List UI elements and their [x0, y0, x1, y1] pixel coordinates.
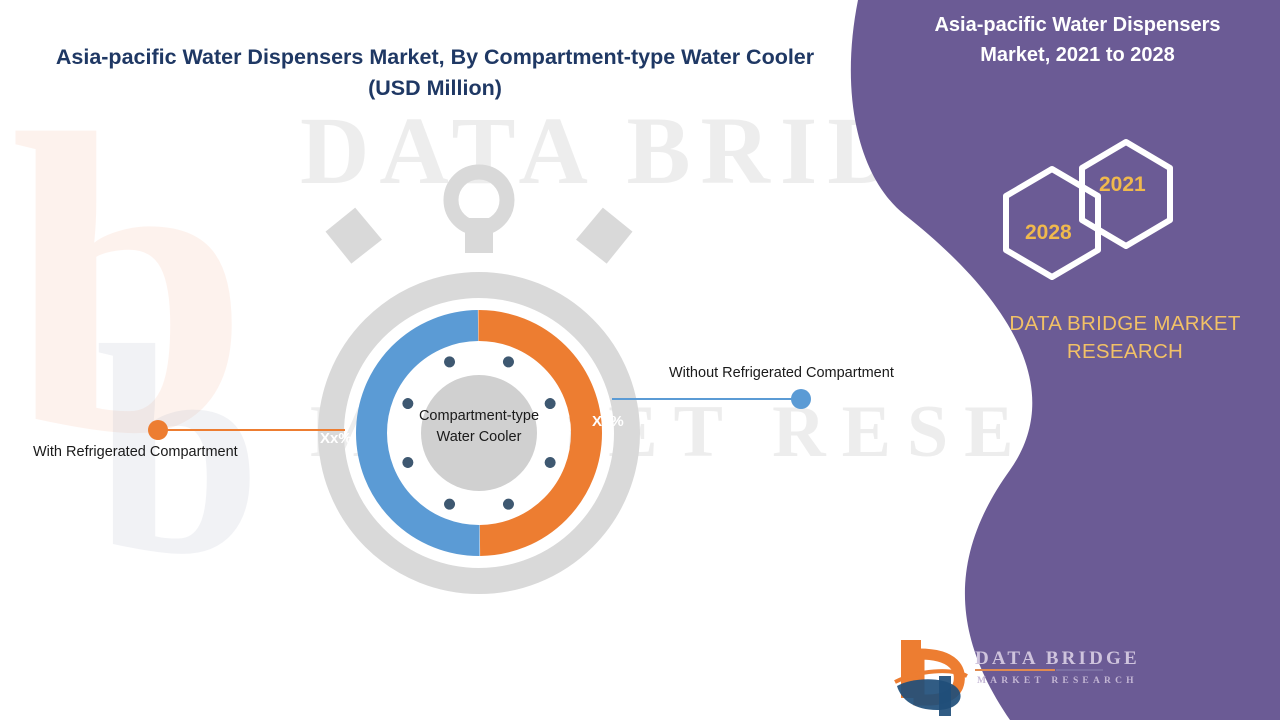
panel-brand-line2: RESEARCH	[1067, 340, 1183, 363]
panel-title: Asia-pacific Water Dispensers Market, 20…	[905, 10, 1250, 70]
footer-logo-title: DATA BRIDGE	[975, 648, 1140, 670]
hexagon-label-2021: 2021	[1099, 173, 1146, 197]
panel-brand-line1: DATA BRIDGE MARKET	[1009, 312, 1240, 335]
stopwatch-ear-left	[322, 204, 386, 267]
stopwatch-ear-right	[572, 204, 636, 267]
callout-dot-left	[148, 420, 168, 440]
callout-label-without-refrigerated: Without Refrigerated Compartment	[669, 365, 894, 381]
panel-title-line1: Asia-pacific Water Dispensers	[934, 14, 1220, 36]
chart-center-label: Compartment-type Water Cooler	[384, 406, 574, 448]
chart-center-label-line1: Compartment-type	[419, 408, 539, 424]
logo-stem-blue	[939, 676, 951, 716]
chart-center-label-line2: Water Cooler	[437, 429, 522, 445]
pie-value-label-without-refrigerated: Xx%	[592, 413, 624, 430]
infographic-canvas: b b DATA BRIDGE MARKET RESEARCH Asia-pac…	[0, 0, 1280, 720]
callout-dot-right	[791, 389, 811, 409]
footer-logo-subtitle: MARKET RESEARCH	[977, 676, 1138, 686]
pie-value-label-with-refrigerated: Xx%	[320, 430, 352, 447]
stopwatch-crown-icon	[451, 172, 507, 253]
hexagon-label-2028: 2028	[1025, 221, 1072, 245]
panel-brand: DATA BRIDGE MARKET RESEARCH	[960, 310, 1280, 366]
stopwatch-donut-chart	[322, 172, 637, 581]
logo-swoosh-blue	[897, 679, 961, 710]
panel-title-line2: Market, 2021 to 2028	[980, 44, 1175, 66]
callout-label-with-refrigerated: With Refrigerated Compartment	[33, 444, 238, 460]
footer-logo-mark	[895, 640, 967, 716]
